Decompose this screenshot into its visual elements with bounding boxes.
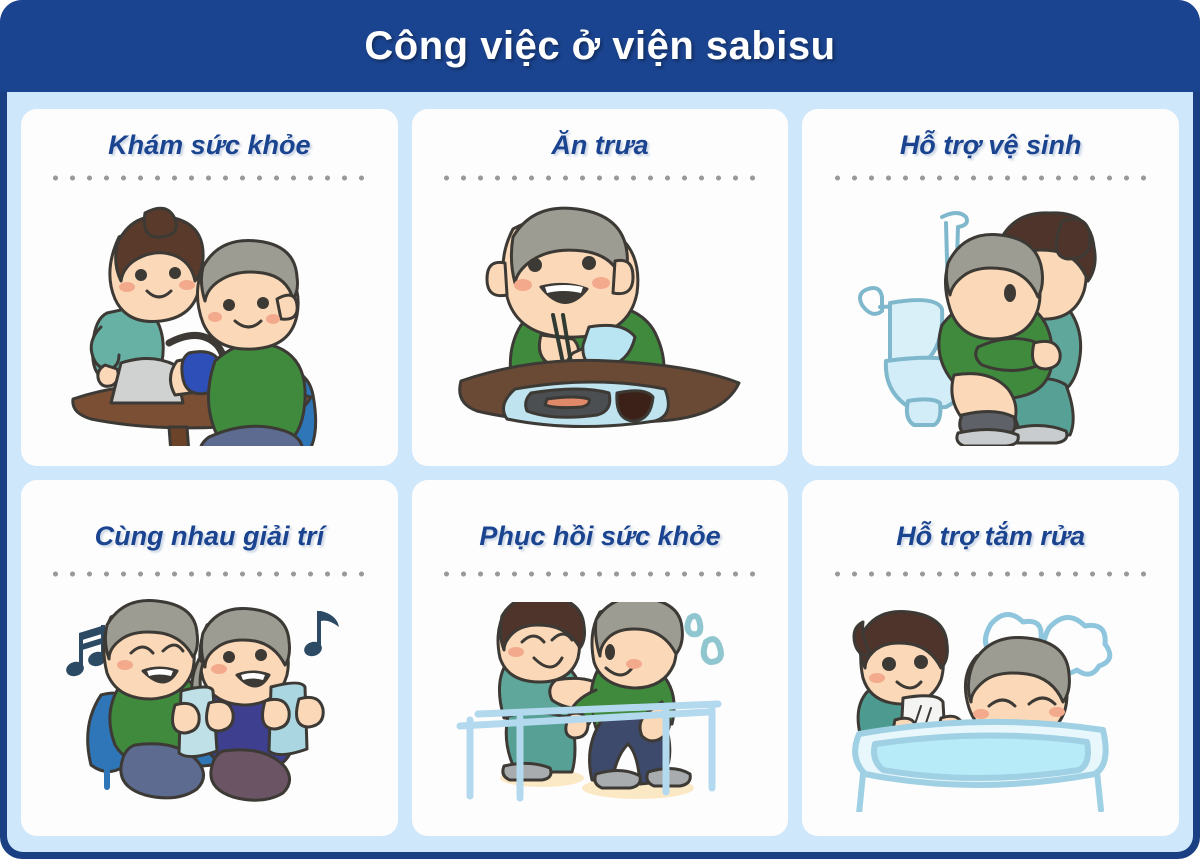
illustration-toilet-assist bbox=[802, 181, 1179, 466]
music-note-icon bbox=[65, 625, 108, 678]
card-title: Hỗ trợ vệ sinh bbox=[900, 131, 1082, 161]
card-cung-nhau-giai-tri[interactable]: Cùng nhau giải trí bbox=[21, 480, 398, 837]
card-title: Phục hồi sức khỏe bbox=[479, 522, 720, 552]
illustration-health-check bbox=[21, 181, 398, 466]
card-title: Ăn trưa bbox=[551, 131, 648, 161]
illustration-rehabilitation bbox=[412, 577, 789, 836]
recreation-icon bbox=[49, 599, 369, 814]
card-ho-tro-tam-rua[interactable]: Hỗ trợ tắm rửa bbox=[802, 480, 1179, 837]
card-title: Hỗ trợ tắm rửa bbox=[896, 522, 1085, 552]
card-kham-suc-khoe[interactable]: Khám sức khỏe bbox=[21, 109, 398, 466]
bathing-assist-icon bbox=[841, 602, 1141, 812]
page-title: Công việc ở viện sabisu bbox=[364, 26, 835, 66]
poster-header: Công việc ở viện sabisu bbox=[0, 0, 1200, 92]
lunch-icon bbox=[455, 203, 745, 443]
content-panel: Khám sức khỏe bbox=[7, 92, 1193, 852]
effort-marks-icon bbox=[687, 616, 720, 662]
card-ho-tro-ve-sinh[interactable]: Hỗ trợ vệ sinh bbox=[802, 109, 1179, 466]
illustration-recreation bbox=[21, 577, 398, 836]
rehabilitation-icon bbox=[450, 602, 750, 812]
poster-root: Công việc ở viện sabisu Khám sức khỏe bbox=[0, 0, 1200, 859]
bathtub-icon bbox=[855, 721, 1106, 811]
illustration-bathing-assist bbox=[802, 577, 1179, 836]
card-grid: Khám sức khỏe bbox=[21, 109, 1179, 836]
toilet-assist-icon bbox=[846, 201, 1136, 446]
card-an-trua[interactable]: Ăn trưa bbox=[412, 109, 789, 466]
card-title: Cùng nhau giải trí bbox=[95, 522, 325, 552]
card-phuc-hoi-suc-khoe[interactable]: Phục hồi sức khỏe bbox=[412, 480, 789, 837]
health-check-icon bbox=[59, 201, 359, 446]
illustration-lunch bbox=[412, 181, 789, 466]
music-note-icon bbox=[303, 611, 340, 658]
card-title: Khám sức khỏe bbox=[108, 131, 310, 161]
